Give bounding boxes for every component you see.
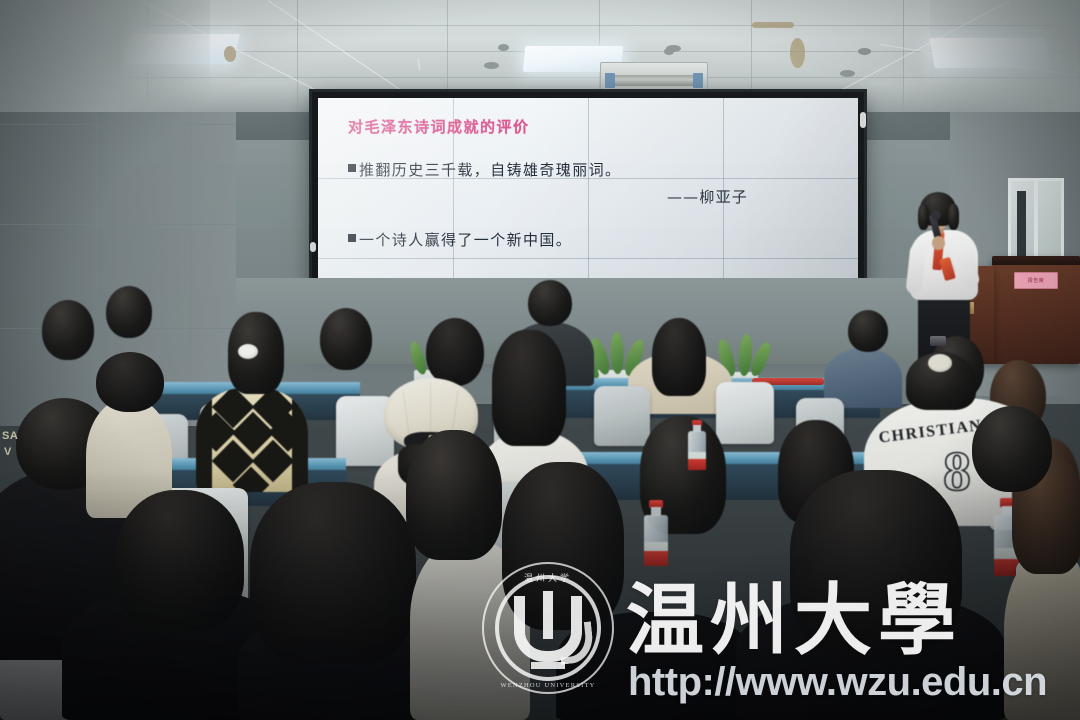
- ceiling-stain: [752, 22, 794, 28]
- podium-sign-label: 报告席: [1016, 274, 1056, 287]
- bullet-marker-icon: [348, 234, 356, 242]
- attendee-head: [406, 430, 502, 560]
- ceiling-speaker: [498, 44, 509, 51]
- ac-cassette-unit: [600, 62, 708, 92]
- podium-sign: 报告席: [1014, 272, 1058, 289]
- screen-edge-highlight: [860, 112, 866, 128]
- podium: 报告席: [992, 256, 1080, 364]
- attendee-head: [972, 406, 1052, 492]
- window-dark-panel: [1017, 191, 1026, 257]
- slide-bullet-text: 一个诗人赢得了一个新中国。: [359, 229, 572, 250]
- attendee-head: [492, 330, 566, 446]
- attendee-head: [652, 318, 706, 396]
- attendee-head: [320, 308, 372, 370]
- attendee-body: [1004, 552, 1080, 720]
- garment-lettering: V: [4, 446, 12, 458]
- ceiling-speaker: [664, 48, 674, 55]
- ceiling-speaker: [840, 70, 855, 77]
- ceiling-stain: [790, 38, 805, 68]
- ceiling-speaker: [484, 62, 499, 69]
- ceiling-stain: [224, 46, 236, 62]
- attendee-head: [426, 318, 484, 386]
- screen-edge-highlight: [310, 242, 316, 252]
- attendee-head: [502, 462, 624, 630]
- hair-clip: [930, 336, 946, 346]
- attendee-head: [528, 280, 572, 326]
- hair-scrunchie: [238, 344, 258, 359]
- presenter-hair-side: [948, 204, 959, 230]
- ceiling-speaker: [858, 48, 871, 55]
- water-bottle: [644, 500, 668, 566]
- podium-top-edge: [992, 256, 1080, 265]
- attendee-head: [96, 352, 164, 412]
- chair-back: [716, 382, 774, 444]
- attendee-head: [250, 482, 416, 664]
- slide-bullet-text: 推翻历史三千载，自铸雄奇瑰丽词。: [359, 159, 621, 180]
- slide-bullet-1: 推翻历史三千载，自铸雄奇瑰丽词。: [348, 159, 834, 180]
- slide-bullet-2: 一个诗人赢得了一个新中国。: [348, 229, 834, 250]
- slide-title: 对毛泽东诗词成就的评价: [348, 116, 834, 137]
- hair-scrunchie: [928, 354, 952, 372]
- microphone-head: [931, 210, 941, 220]
- water-bottle: [688, 420, 706, 470]
- presenter-hair-side: [918, 204, 929, 230]
- ac-vent: [607, 75, 701, 86]
- attendee-head: [106, 286, 152, 338]
- slide-attribution: ——柳亚子: [348, 186, 834, 207]
- attendee-head: [42, 300, 94, 360]
- attendee-head: [790, 470, 962, 654]
- presenter-hand: [932, 236, 945, 250]
- argyle-sweater: [196, 388, 308, 492]
- chair-back: [594, 386, 650, 446]
- lecture-hall-photo: 对毛泽东诗词成就的评价 推翻历史三千载，自铸雄奇瑰丽词。 ——柳亚子 一个诗人赢…: [0, 0, 1080, 720]
- attendee-head: [848, 310, 888, 352]
- bullet-marker-icon: [348, 164, 356, 172]
- garment-lettering: SA: [2, 430, 18, 442]
- attendee-head: [116, 490, 244, 630]
